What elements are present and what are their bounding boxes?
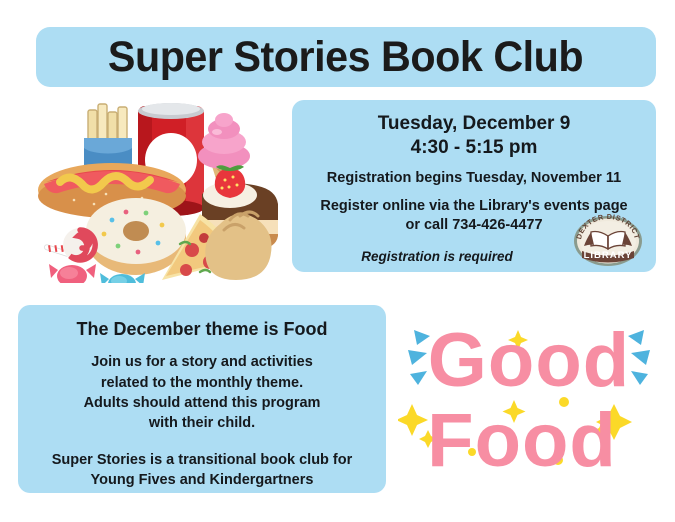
registration-opens-text: Registration begins Tuesday, November 11 (304, 169, 644, 188)
logo-banner-text: LIBRARY (584, 250, 633, 261)
event-info-box: Tuesday, December 9 4:30 - 5:15 pm Regis… (292, 100, 656, 272)
blue-burst-left-icon (408, 330, 430, 385)
title-banner: Super Stories Book Club (36, 27, 656, 87)
poster-root: Super Stories Book Club (0, 0, 675, 522)
theme-footer: Super Stories is a transitional book clu… (34, 450, 370, 491)
good-food-graphic: Good Food (398, 312, 660, 492)
theme-body-line: related to the monthly theme. (34, 373, 370, 393)
food-illustration (34, 98, 294, 283)
theme-footer-line: Young Fives and Kindergartners (34, 470, 370, 490)
food-word: Food (427, 398, 617, 483)
theme-box: The December theme is Food Join us for a… (18, 305, 386, 493)
theme-body-line: Join us for a story and activities (34, 352, 370, 372)
event-time: 4:30 - 5:15 pm (304, 136, 644, 160)
donut-icon (86, 198, 186, 275)
blue-burst-right-icon (628, 330, 650, 385)
good-word: Good (428, 318, 630, 403)
theme-heading: The December theme is Food (34, 318, 370, 341)
pink-candy-icon (49, 264, 96, 283)
theme-body-line: Adults should attend this program (34, 393, 370, 413)
theme-body: Join us for a story and activities relat… (34, 352, 370, 433)
lollipop-icon (44, 228, 97, 262)
theme-footer-line: Super Stories is a transitional book clu… (34, 450, 370, 470)
theme-body-line: with their child. (34, 413, 370, 433)
event-date: Tuesday, December 9 (304, 111, 644, 136)
page-title: Super Stories Book Club (108, 33, 583, 82)
library-logo: DEXTER DISTRICT LIBRARY (572, 212, 644, 270)
french-fries-icon (84, 104, 132, 171)
